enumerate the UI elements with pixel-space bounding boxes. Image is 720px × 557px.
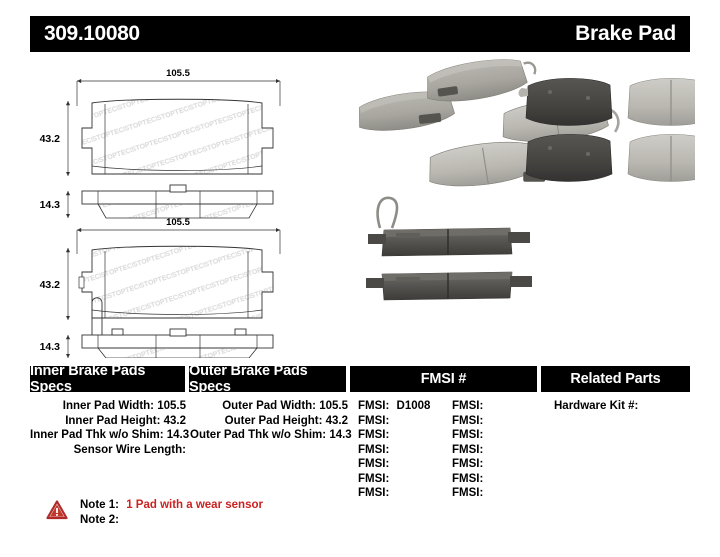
- spec-label: Sensor Wire Length:: [74, 444, 186, 456]
- note-lines: Note 1: 1 Pad with a wear sensor Note 2:: [80, 498, 263, 528]
- notes-section: Note 1: 1 Pad with a wear sensor Note 2:: [46, 498, 263, 528]
- fmsi-label: FMSI:: [358, 415, 389, 427]
- photo-sensor-wire: [378, 198, 397, 228]
- spec-table-body: Inner Pad Width: 105.5 Inner Pad Height:…: [30, 399, 690, 501]
- spec-row: Outer Pad Width: 105.5: [190, 399, 348, 414]
- dim-label-width-top: 105.5: [166, 68, 190, 79]
- fmsi-label: FMSI:: [452, 400, 483, 412]
- spec-label: Inner Pad Width:: [63, 400, 154, 412]
- dim-label-height-bottom: 43.2: [40, 279, 61, 291]
- fmsi-value: D1008: [393, 400, 431, 412]
- part-number: 309.10080: [44, 22, 140, 46]
- pad-bottom-edge-view: [82, 329, 273, 348]
- spec-label: Outer Pad Thk w/o Shim:: [190, 429, 326, 441]
- fmsi-row: FMSI:: [446, 472, 540, 487]
- column-header-inner-specs: Inner Brake Pads Specs: [30, 366, 185, 392]
- fmsi-column: FMSI: D1008 FMSI: FMSI: FMSI:: [352, 399, 540, 501]
- inner-specs-column: Inner Pad Width: 105.5 Inner Pad Height:…: [30, 399, 186, 501]
- column-header-outer-specs: Outer Brake Pads Specs: [189, 366, 346, 392]
- product-spec-sheet: 309.10080 Brake Pad STOPTECH: [0, 0, 720, 557]
- fmsi-value: [483, 444, 487, 456]
- fmsi-label: FMSI:: [358, 429, 389, 441]
- fmsi-row: FMSI:: [352, 486, 446, 501]
- dim-label-height-top: 43.2: [40, 133, 61, 145]
- spec-row: Inner Pad Height: 43.2: [30, 414, 186, 429]
- fmsi-label: FMSI:: [452, 473, 483, 485]
- note-1-text: 1 Pad with a wear sensor: [122, 499, 263, 511]
- spec-table-header-row: Inner Brake Pads Specs Outer Brake Pads …: [30, 366, 690, 392]
- note-2-text: [119, 514, 123, 526]
- product-photos: [350, 58, 695, 358]
- fmsi-row: FMSI:: [352, 472, 446, 487]
- fmsi-label: FMSI:: [452, 458, 483, 470]
- spec-table: Inner Brake Pads Specs Outer Brake Pads …: [30, 366, 690, 501]
- related-parts-column: Hardware Kit #:: [544, 399, 690, 501]
- photo-group-edge-pads: [366, 198, 532, 300]
- fmsi-subcolumn-right: FMSI: FMSI: FMSI: FMSI:: [446, 399, 540, 501]
- pad-top-face-view: [82, 99, 273, 174]
- note-2-row: Note 2:: [80, 513, 263, 528]
- fmsi-label: FMSI:: [452, 429, 483, 441]
- fmsi-value: [483, 458, 487, 470]
- fmsi-value: [389, 444, 393, 456]
- fmsi-value: [389, 415, 393, 427]
- fmsi-value: [483, 415, 487, 427]
- fmsi-subcolumn-left: FMSI: D1008 FMSI: FMSI: FMSI:: [352, 399, 446, 501]
- header-bar: 309.10080 Brake Pad: [30, 16, 690, 52]
- technical-drawings: STOPTECH 105.5 43.2: [30, 58, 350, 358]
- fmsi-row: FMSI:: [352, 457, 446, 472]
- fmsi-label: FMSI:: [358, 444, 389, 456]
- dim-label-width-bottom: 105.5: [166, 217, 190, 228]
- fmsi-label: FMSI:: [358, 487, 389, 499]
- spec-value: 43.2: [164, 415, 186, 427]
- fmsi-label: FMSI:: [452, 487, 483, 499]
- spec-row: Outer Pad Thk w/o Shim: 14.3: [190, 428, 348, 443]
- column-header-fmsi: FMSI #: [350, 366, 537, 392]
- spec-row: Inner Pad Thk w/o Shim: 14.3: [30, 428, 186, 443]
- fmsi-label: FMSI:: [358, 458, 389, 470]
- fmsi-value: [483, 429, 487, 441]
- page-title: Brake Pad: [575, 22, 676, 46]
- fmsi-row: FMSI:: [446, 457, 540, 472]
- fmsi-row: FMSI:: [352, 428, 446, 443]
- fmsi-value: [389, 473, 393, 485]
- spec-label: Inner Pad Height:: [65, 415, 160, 427]
- fmsi-label: FMSI:: [452, 415, 483, 427]
- spec-label: Outer Pad Height:: [225, 415, 323, 427]
- fmsi-row: FMSI:: [446, 414, 540, 429]
- fmsi-label: FMSI:: [452, 444, 483, 456]
- fmsi-label: FMSI:: [358, 400, 389, 412]
- fmsi-row: FMSI:: [352, 414, 446, 429]
- product-photo-svg: [350, 58, 695, 358]
- spec-label: Inner Pad Thk w/o Shim:: [30, 429, 164, 441]
- note-1-row: Note 1: 1 Pad with a wear sensor: [80, 498, 263, 513]
- fmsi-value: [389, 487, 393, 499]
- related-part-label: Hardware Kit #:: [554, 400, 638, 412]
- note-1-label: Note 1:: [80, 499, 119, 511]
- fmsi-value: [483, 487, 487, 499]
- spec-value: 105.5: [319, 400, 348, 412]
- note-2-label: Note 2:: [80, 514, 119, 526]
- spec-value: 43.2: [326, 415, 348, 427]
- fmsi-value: [483, 400, 487, 412]
- fmsi-value: [389, 458, 393, 470]
- spec-value: 105.5: [157, 400, 186, 412]
- pad-top-edge-view: [82, 185, 273, 204]
- fmsi-row: FMSI:: [446, 428, 540, 443]
- spec-row: Outer Pad Height: 43.2: [190, 414, 348, 429]
- fmsi-label: FMSI:: [358, 473, 389, 485]
- fmsi-row: FMSI:: [446, 443, 540, 458]
- fmsi-row: FMSI:: [446, 486, 540, 501]
- dim-label-thk-top: 14.3: [40, 199, 61, 211]
- fmsi-row: FMSI:: [352, 443, 446, 458]
- fmsi-value: [389, 429, 393, 441]
- outer-specs-column: Outer Pad Width: 105.5 Outer Pad Height:…: [190, 399, 348, 501]
- spec-row: Inner Pad Width: 105.5: [30, 399, 186, 414]
- fmsi-row: FMSI: D1008: [352, 399, 446, 414]
- column-header-related-parts: Related Parts: [541, 366, 690, 392]
- dim-label-thk-bottom: 14.3: [40, 341, 61, 353]
- warning-triangle-icon: [46, 500, 68, 520]
- brake-pad-drawing-svg: STOPTECH 105.5 43.2: [30, 58, 350, 358]
- fmsi-value: [483, 473, 487, 485]
- pad-bottom-face-view: [82, 246, 273, 318]
- related-part-row: Hardware Kit #:: [544, 399, 690, 414]
- fmsi-row: FMSI:: [446, 399, 540, 414]
- spec-value: 14.3: [167, 429, 189, 441]
- spec-label: Outer Pad Width:: [222, 400, 316, 412]
- spec-value: 14.3: [329, 429, 351, 441]
- spec-row: Sensor Wire Length:: [30, 443, 186, 458]
